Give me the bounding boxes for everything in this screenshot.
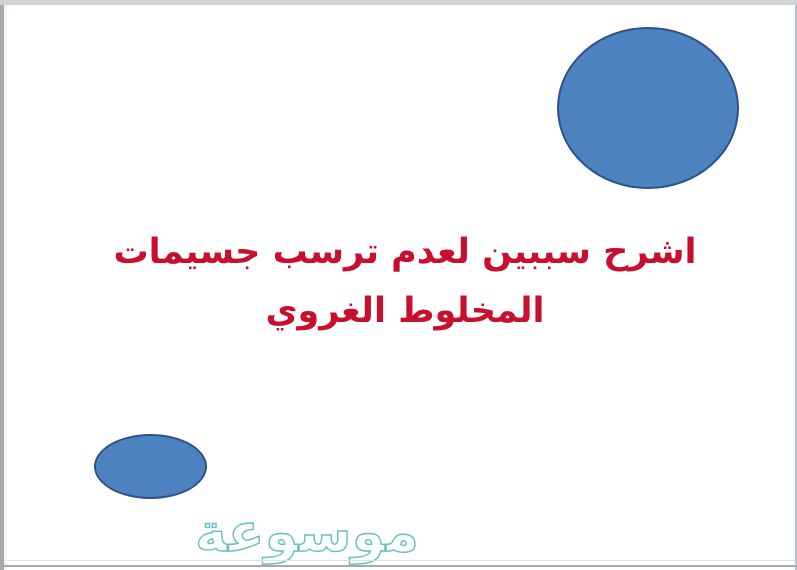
slide-canvas: اشرح سببين لعدم ترسب جسيمات المخلوط الغر… <box>0 0 797 570</box>
decorative-circle-large <box>557 27 739 189</box>
slide-headline: اشرح سببين لعدم ترسب جسيمات المخلوط الغر… <box>105 223 705 341</box>
window-bottom-edge <box>0 565 797 567</box>
window-bottom-rule <box>7 560 795 561</box>
watermark-logo: موسوعة <box>13 493 213 567</box>
watermark-text: موسوعة <box>195 501 419 564</box>
slide-body: اشرح سببين لعدم ترسب جسيمات المخلوط الغر… <box>7 5 795 560</box>
decorative-ellipse-small <box>94 434 207 499</box>
